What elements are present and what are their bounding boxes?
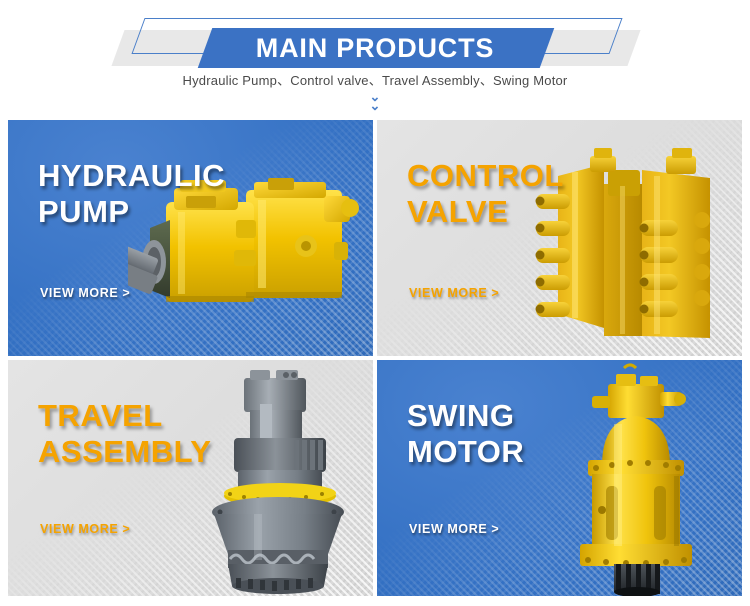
card-text-block: TRAVEL ASSEMBLY	[38, 398, 211, 470]
product-card-swing-motor[interactable]: SWING MOTOR VIEW MORE >	[377, 360, 742, 596]
product-card-hydraulic-pump[interactable]: HYDRAULIC PUMP VIEW MORE >	[8, 120, 373, 356]
scroll-down-chevrons: ⌄ ⌄	[0, 92, 750, 110]
card-text-block: SWING MOTOR	[407, 398, 524, 470]
product-card-travel-assembly[interactable]: TRAVEL ASSEMBLY VIEW MORE >	[8, 360, 373, 596]
product-card-control-valve[interactable]: CONTROL VALVE VIEW MORE >	[377, 120, 742, 356]
page-title: MAIN PRODUCTS	[0, 28, 750, 68]
chevron-down-icon: ⌄	[0, 101, 750, 110]
page-header: MAIN PRODUCTS Hydraulic Pump、Control val…	[0, 0, 750, 118]
card-title: TRAVEL ASSEMBLY	[38, 398, 211, 470]
view-more-button[interactable]: VIEW MORE >	[40, 286, 130, 300]
card-title: SWING MOTOR	[407, 398, 524, 470]
view-more-button[interactable]: VIEW MORE >	[409, 522, 499, 536]
card-text-block: CONTROL VALVE	[407, 158, 564, 230]
card-title: CONTROL VALVE	[407, 158, 564, 230]
card-title: HYDRAULIC PUMP	[38, 158, 225, 230]
view-more-button[interactable]: VIEW MORE >	[409, 286, 499, 300]
view-more-button[interactable]: VIEW MORE >	[40, 522, 130, 536]
page-subtitle: Hydraulic Pump、Control valve、Travel Asse…	[0, 70, 750, 89]
main-products-banner: MAIN PRODUCTS	[0, 18, 750, 66]
travel-assembly-photo	[198, 364, 358, 594]
swing-motor-photo	[562, 362, 732, 596]
card-text-block: HYDRAULIC PUMP	[38, 158, 225, 230]
product-card-grid: HYDRAULIC PUMP VIEW MORE >	[8, 120, 742, 596]
